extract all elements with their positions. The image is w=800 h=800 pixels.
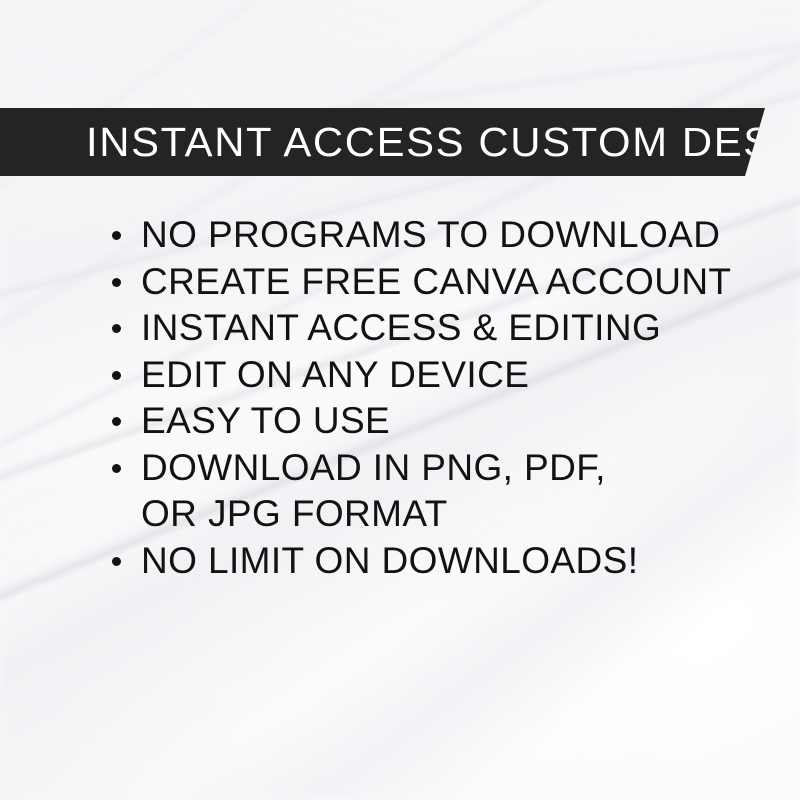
list-item-label: EDIT ON ANY DEVICE: [141, 352, 529, 399]
list-item-label: DOWNLOAD IN PNG, PDF, OR JPG FORMAT: [141, 445, 641, 538]
bullet-dot-icon: [112, 557, 121, 566]
bullet-dot-icon: [112, 417, 121, 426]
promo-graphic: INSTANT ACCESS CUSTOM DESIGNS NO PROGRAM…: [0, 0, 800, 800]
list-item-label: EASY TO USE: [141, 398, 390, 445]
bullet-dot-icon: [112, 231, 121, 240]
list-item: NO PROGRAMS TO DOWNLOAD: [112, 212, 752, 259]
bullet-dot-icon: [112, 371, 121, 380]
list-item-label: INSTANT ACCESS & EDITING: [141, 305, 661, 352]
list-item-label: NO PROGRAMS TO DOWNLOAD: [141, 212, 720, 259]
title-banner: INSTANT ACCESS CUSTOM DESIGNS: [0, 108, 765, 176]
bullet-dot-icon: [112, 464, 121, 473]
bullet-dot-icon: [112, 324, 121, 333]
list-item: CREATE FREE CANVA ACCOUNT: [112, 259, 752, 306]
bullet-dot-icon: [112, 278, 121, 287]
feature-list: NO PROGRAMS TO DOWNLOAD CREATE FREE CANV…: [112, 212, 752, 584]
list-item-label: CREATE FREE CANVA ACCOUNT: [141, 259, 731, 306]
list-item-label: NO LIMIT ON DOWNLOADS!: [141, 538, 638, 585]
list-item: EASY TO USE: [112, 398, 752, 445]
list-item: INSTANT ACCESS & EDITING: [112, 305, 752, 352]
list-item: NO LIMIT ON DOWNLOADS!: [112, 538, 752, 585]
list-item: DOWNLOAD IN PNG, PDF, OR JPG FORMAT: [112, 445, 752, 538]
list-item: EDIT ON ANY DEVICE: [112, 352, 752, 399]
banner-title-text: INSTANT ACCESS CUSTOM DESIGNS: [86, 122, 800, 163]
